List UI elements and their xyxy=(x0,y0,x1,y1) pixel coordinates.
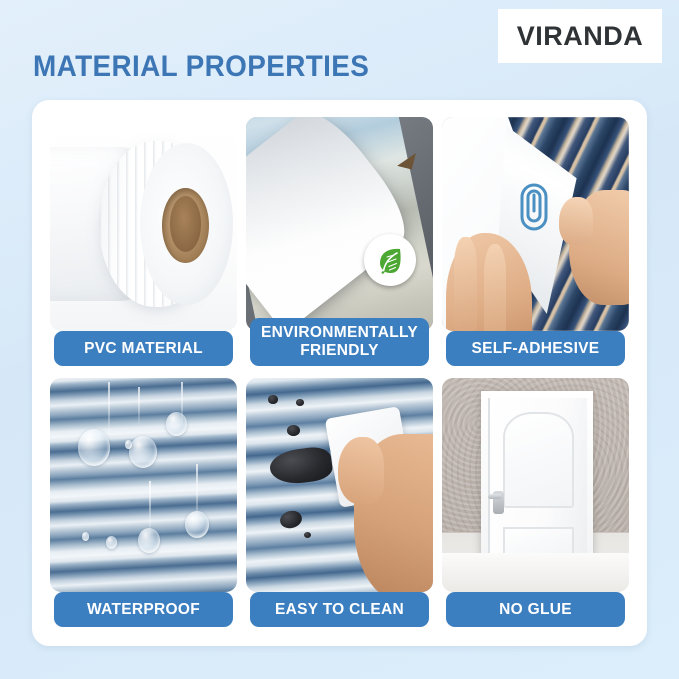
feature-label-self-adhesive: SELF-ADHESIVE xyxy=(446,331,625,366)
paperclip-icon xyxy=(517,181,551,238)
features-grid: PVC MATERIAL ENVIRONMENTALLY FRIENDLY xyxy=(50,117,629,629)
feature-tile-waterproof: WATERPROOF xyxy=(50,378,237,629)
brand-name: VIRANDA xyxy=(517,21,644,52)
feature-tile-pvc-material: PVC MATERIAL xyxy=(50,117,237,368)
brand-logo: VIRANDA xyxy=(498,9,662,63)
page-title: MATERIAL PROPERTIES xyxy=(33,50,369,84)
white-door-image xyxy=(442,378,629,592)
eco-leaf-badge-image xyxy=(246,117,433,331)
feature-label-pvc-material: PVC MATERIAL xyxy=(54,331,233,366)
leaf-icon xyxy=(364,234,416,286)
feature-label-waterproof: WATERPROOF xyxy=(54,592,233,627)
feature-label-no-glue: NO GLUE xyxy=(446,592,625,627)
wiping-cloth-image xyxy=(246,378,433,592)
peel-and-stick-image xyxy=(442,117,629,331)
feature-tile-easy-to-clean: EASY TO CLEAN xyxy=(246,378,433,629)
pvc-roll-image xyxy=(50,117,237,331)
features-card: PVC MATERIAL ENVIRONMENTALLY FRIENDLY xyxy=(32,100,647,646)
water-droplets-image xyxy=(50,378,237,592)
feature-tile-no-glue: NO GLUE xyxy=(442,378,629,629)
feature-label-easy-to-clean: EASY TO CLEAN xyxy=(250,592,429,627)
feature-label-environmentally-friendly: ENVIRONMENTALLY FRIENDLY xyxy=(250,318,429,366)
feature-tile-environmentally-friendly: ENVIRONMENTALLY FRIENDLY xyxy=(246,117,433,368)
feature-tile-self-adhesive: SELF-ADHESIVE xyxy=(442,117,629,368)
